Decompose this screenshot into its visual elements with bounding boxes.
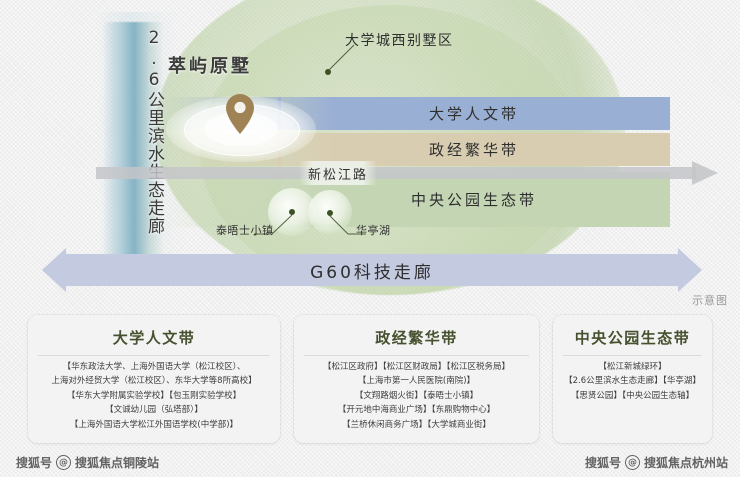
band-economy-label: 政经繁华带: [429, 139, 519, 160]
card-line: 【松江新城绿环】: [598, 362, 666, 373]
watermark-right-suffix: 搜狐焦点杭州站: [644, 454, 728, 471]
road-label: 新松江路: [299, 161, 377, 185]
card-line: 【开元地中海商业广场】【东鼎购物中心】: [338, 405, 495, 416]
card-title: 中央公园生态带: [575, 327, 691, 348]
callout-villa-dot: [325, 69, 331, 75]
vertical-corridor-title: 2.6公里滨水生态走廊: [130, 28, 164, 235]
town-label: 泰晤士小镇: [216, 222, 274, 238]
callout-villa-zone-label: 大学城西别墅区: [345, 30, 454, 50]
road-arrow-shaft: [96, 167, 696, 179]
card-line: 【松江区政府】【松江区财政局】【松江区税务局】: [323, 362, 510, 373]
arrow-right-icon: [692, 161, 718, 185]
card-title: 大学人文带: [113, 327, 196, 348]
card-line: 【2.6公里滨水生态走廊】【华亭湖】: [564, 376, 701, 387]
schematic-map: 2.6公里滨水生态走廊 大学人文带 政经繁华带 中央公园生态带 新松江路 萃屿原…: [0, 0, 740, 305]
watermark-left: 搜狐号 @ 搜狐焦点铜陵站: [16, 454, 159, 471]
page-root: 2.6公里滨水生态走廊 大学人文带 政经繁华带 中央公园生态带 新松江路 萃屿原…: [0, 0, 740, 477]
project-marker-group[interactable]: 萃屿原墅: [162, 52, 332, 162]
card-line: 上海对外经贸大学（松江校区）、东华大学等8所高校】: [51, 376, 256, 387]
info-cards-row: 大学人文带 【华东政法大学、上海外国语大学（松江校区）、 上海对外经贸大学（松江…: [28, 315, 712, 443]
watermark-right: 搜狐号 @ 搜狐焦点杭州站: [585, 454, 728, 471]
card-university-culture[interactable]: 大学人文带 【华东政法大学、上海外国语大学（松江校区）、 上海对外经贸大学（松江…: [28, 315, 280, 443]
callout-villa-leader-line: [327, 44, 355, 72]
card-line: 【思贤公园】【中央公园生态轴】: [571, 391, 694, 402]
at-icon: @: [625, 455, 640, 470]
card-central-park-ecology[interactable]: 中央公园生态带 【松江新城绿环】 【2.6公里滨水生态走廊】【华亭湖】 【思贤公…: [553, 315, 712, 443]
card-body: 【松江区政府】【松江区财政局】【松江区税务局】 【上海市第一人民医院(南院)】 …: [323, 362, 510, 431]
card-line: 【上海外国语大学松江外国语学校(中学部)】: [70, 420, 238, 431]
road-arrow-row: 新松江路: [96, 161, 740, 185]
card-divider: [304, 355, 529, 356]
card-line: 【兰桥休闲商务广场】【大学城商业街】: [342, 420, 491, 431]
watermark-left-prefix: 搜狐号: [16, 454, 52, 471]
card-divider: [38, 355, 270, 356]
card-line: 【华东政法大学、上海外国语大学（松江校区）、: [63, 362, 246, 373]
card-body: 【松江新城绿环】 【2.6公里滨水生态走廊】【华亭湖】 【思贤公园】【中央公园生…: [564, 362, 701, 402]
project-name-label: 萃屿原墅: [168, 52, 252, 78]
card-line: 【文诚幼儿园（弘塔部）】: [105, 405, 203, 416]
band-park-label: 中央公园生态带: [411, 189, 537, 210]
card-line: 【华东大学附属实验学校】【包玉刚实验学校】: [67, 391, 241, 402]
band-university-culture: 大学人文带: [278, 97, 670, 130]
card-line: 【上海市第一人民医院(南院)】: [358, 376, 475, 387]
watermark-left-suffix: 搜狐焦点铜陵站: [75, 454, 159, 471]
g60-corridor-arrow: G60科技走廊: [42, 248, 702, 292]
card-divider: [563, 355, 702, 356]
lake-label: 华亭湖: [356, 222, 391, 238]
card-body: 【华东政法大学、上海外国语大学（松江校区）、 上海对外经贸大学（松江校区）、东华…: [51, 362, 256, 431]
map-pin-icon[interactable]: [226, 94, 254, 134]
at-icon: @: [56, 455, 71, 470]
schematic-note: 示意图: [692, 292, 728, 308]
card-title: 政经繁华带: [375, 327, 458, 348]
card-economy-prosperity[interactable]: 政经繁华带 【松江区政府】【松江区财政局】【松江区税务局】 【上海市第一人民医院…: [294, 315, 539, 443]
card-line: 【文翔路烟火街】【泰晤士小镇】: [355, 391, 478, 402]
band-university-label: 大学人文带: [429, 103, 519, 124]
g60-corridor-label: G60科技走廊: [42, 248, 702, 292]
watermark-right-prefix: 搜狐号: [585, 454, 621, 471]
